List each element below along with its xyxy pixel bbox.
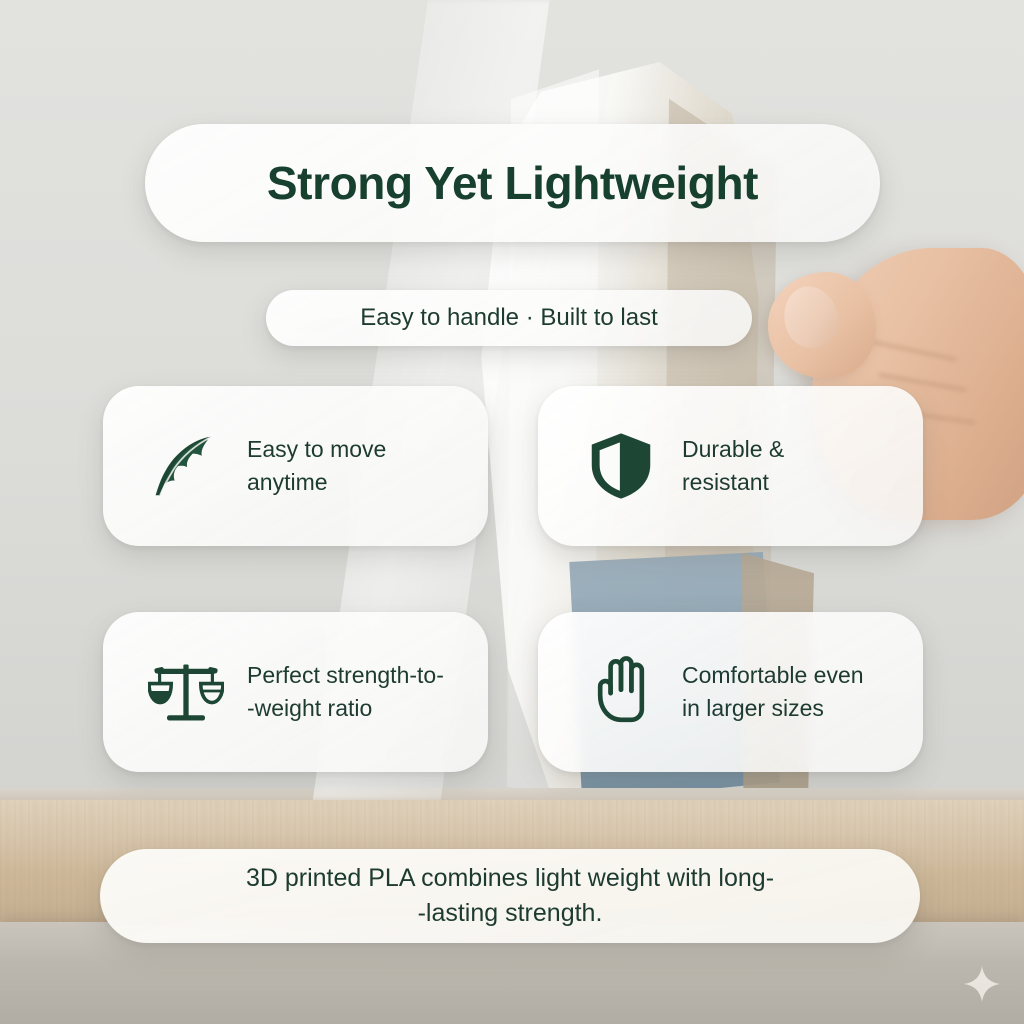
feature-label: Perfect strength-to- -weight ratio — [247, 659, 488, 724]
page-subtitle: Easy to handle · Built to last — [360, 304, 658, 332]
subtitle-pill: Easy to handle · Built to last — [266, 290, 752, 346]
footer-caption-pill: 3D printed PLA combines light weight wit… — [100, 849, 920, 943]
feature-card-comfortable[interactable]: Comfortable even in larger sizes — [538, 612, 923, 772]
feature-label: Easy to move anytime — [247, 433, 386, 498]
feather-icon — [147, 427, 225, 505]
footer-caption: 3D printed PLA combines light weight wit… — [246, 861, 774, 932]
infographic-canvas: Strong Yet Lightweight Easy to handle · … — [0, 0, 1024, 1024]
feature-card-strength-to-weight[interactable]: Perfect strength-to- -weight ratio — [103, 612, 488, 772]
sparkle-icon — [962, 964, 1002, 1004]
shield-icon — [582, 427, 660, 505]
feature-label: Comfortable even in larger sizes — [682, 659, 864, 724]
open-hand-icon — [582, 653, 660, 731]
balance-scale-icon — [147, 653, 225, 731]
feature-label: Durable & resistant — [682, 433, 784, 498]
title-pill: Strong Yet Lightweight — [145, 124, 880, 242]
page-title: Strong Yet Lightweight — [267, 156, 758, 210]
feature-card-durable[interactable]: Durable & resistant — [538, 386, 923, 546]
feature-card-easy-to-move[interactable]: Easy to move anytime — [103, 386, 488, 546]
